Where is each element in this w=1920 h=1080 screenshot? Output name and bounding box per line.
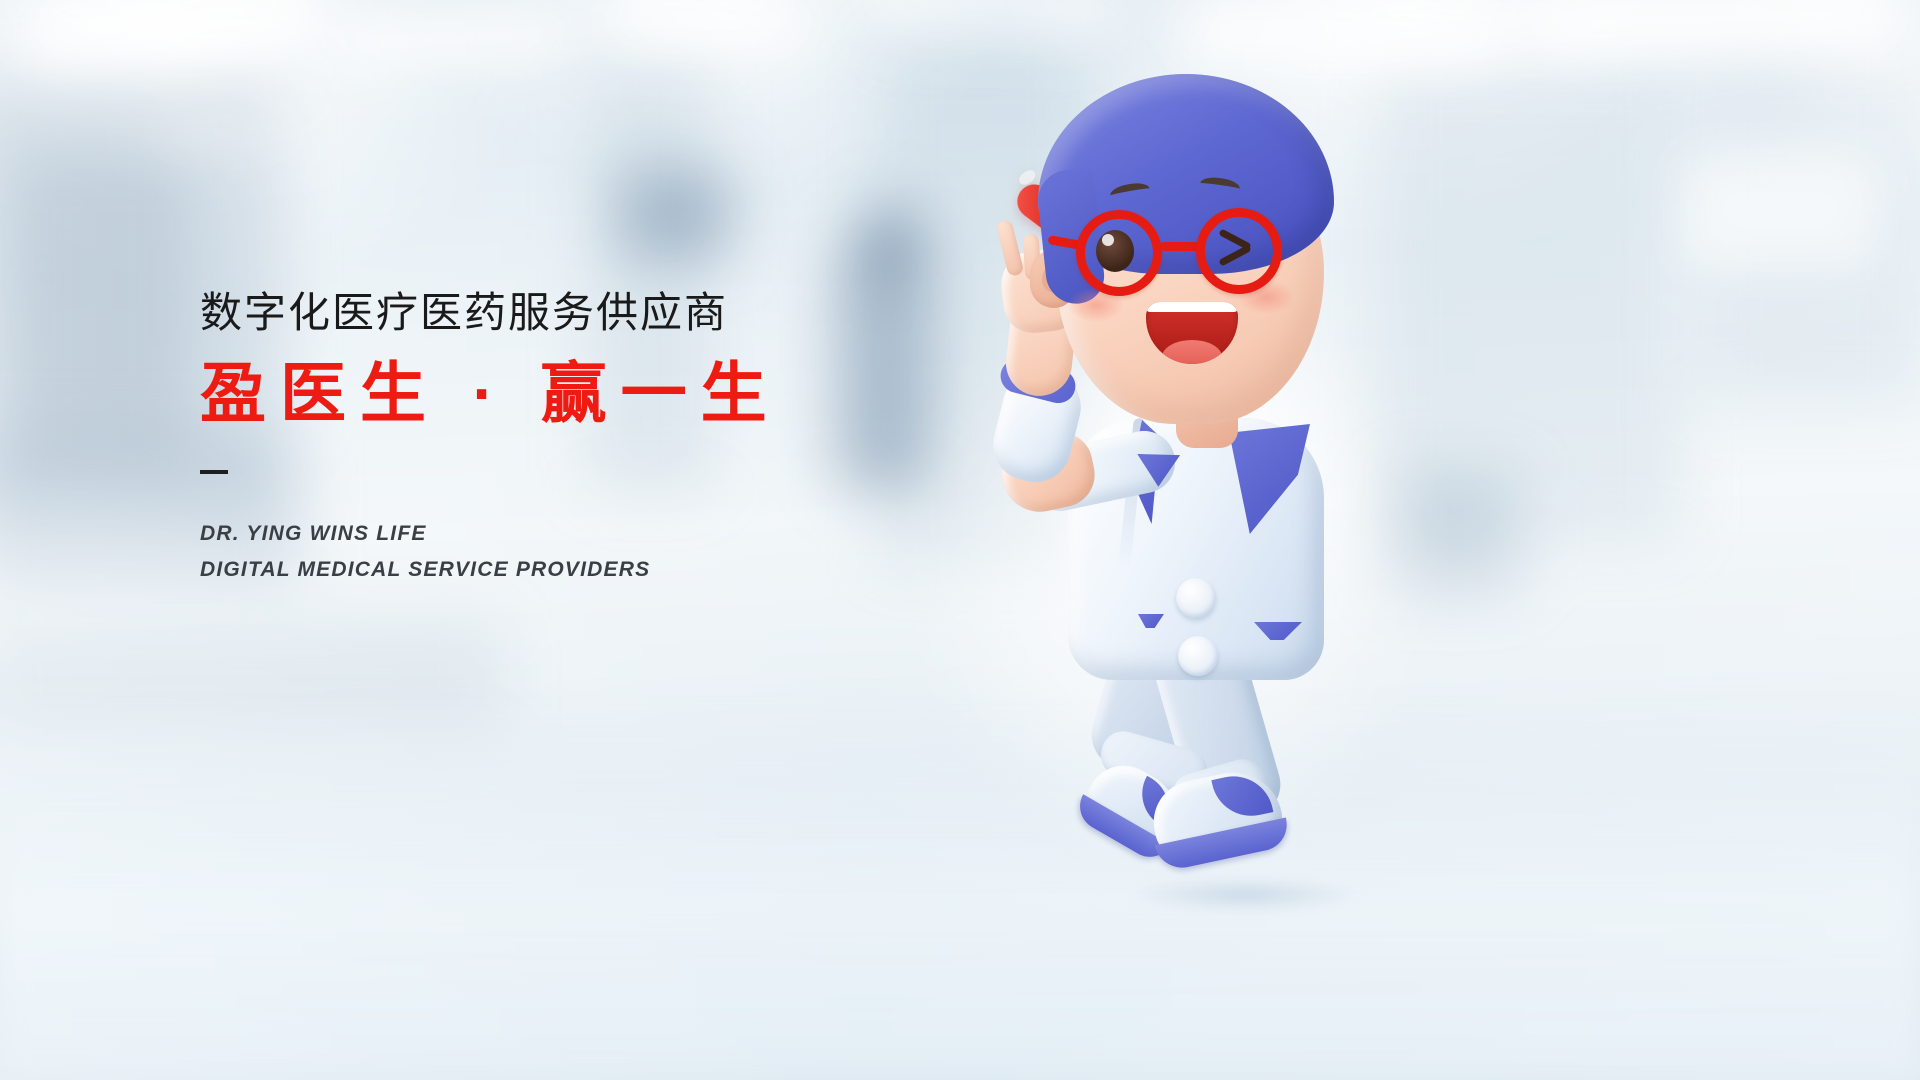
banner-headline: 数字化医疗医药服务供应商 xyxy=(200,292,960,334)
character-head xyxy=(1032,74,1352,434)
teeth xyxy=(1146,302,1238,312)
divider-rule xyxy=(200,470,228,474)
doctor-mascot-illustration xyxy=(980,40,1400,860)
glasses-lens-right xyxy=(1196,208,1282,294)
subtitle-line-2: DIGITAL MEDICAL SERVICE PROVIDERS xyxy=(200,552,960,588)
hero-banner: 数字化医疗医药服务供应商 盈医生 · 赢一生 DR. YING WINS LIF… xyxy=(0,0,1920,1080)
banner-subtitle: DR. YING WINS LIFE DIGITAL MEDICAL SERVI… xyxy=(200,516,960,588)
character-ground-shadow xyxy=(1130,878,1360,912)
glasses-bridge xyxy=(1160,242,1200,251)
banner-title: 盈医生 · 赢一生 xyxy=(200,360,960,426)
coat-button xyxy=(1178,636,1218,676)
subtitle-line-1: DR. YING WINS LIFE xyxy=(200,516,960,552)
glasses-icon xyxy=(1076,208,1316,300)
coat-button xyxy=(1176,578,1216,618)
glasses-lens-left xyxy=(1076,210,1162,296)
banner-copy: 数字化医疗医药服务供应商 盈医生 · 赢一生 DR. YING WINS LIF… xyxy=(200,292,960,588)
tongue xyxy=(1162,340,1222,364)
